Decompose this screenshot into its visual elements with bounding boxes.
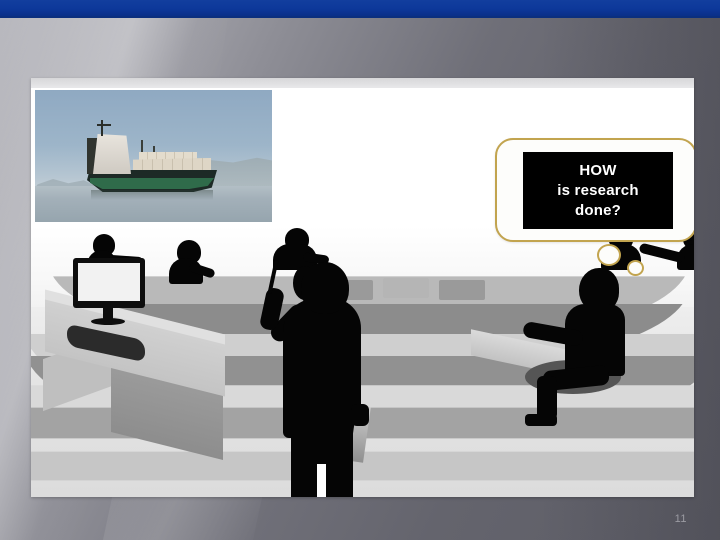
callout-tail-bubble-small xyxy=(627,260,644,276)
slide-canvas: HOW is research done? xyxy=(31,78,694,497)
monitor-screen xyxy=(78,263,140,301)
student-silhouette-seated-right xyxy=(531,268,661,418)
callout-box: HOW is research done? xyxy=(495,138,694,242)
callout-line-2: is research xyxy=(557,181,638,200)
photo-ship-superstructure xyxy=(93,134,131,174)
photo-water-reflection xyxy=(91,190,213,200)
student-foot xyxy=(525,414,557,426)
callout-tail-bubble-large xyxy=(597,244,621,266)
page-number: 11 xyxy=(675,513,687,525)
desk-panel xyxy=(383,278,429,298)
photo-ship-hull-green-band xyxy=(90,178,214,189)
lecturer-head xyxy=(301,262,349,314)
monitor-stand-base xyxy=(91,318,125,325)
callout-text-panel: HOW is research done? xyxy=(523,152,673,229)
lecturer-torso xyxy=(283,298,361,438)
lecture-hall-illustration xyxy=(31,226,694,497)
student-silhouette-back-2 xyxy=(163,240,219,284)
lecturer-leg-gap xyxy=(317,464,326,497)
desk-panel xyxy=(439,280,485,300)
lecturer-silhouette xyxy=(259,254,389,497)
slide-viewer: HOW is research done? 11 xyxy=(0,0,720,540)
slide-top-strip xyxy=(31,78,694,88)
photo-ship-radar-bar xyxy=(97,124,111,126)
top-blue-band xyxy=(0,0,720,16)
callout-line-1: HOW xyxy=(579,161,616,180)
lecturer-hand xyxy=(351,404,369,426)
photo-ship-mast xyxy=(101,120,103,136)
callout-line-3: done? xyxy=(575,201,621,220)
top-band-edge xyxy=(0,16,720,18)
computer-monitor-icon xyxy=(73,258,145,308)
container-ship-photo xyxy=(35,90,272,222)
